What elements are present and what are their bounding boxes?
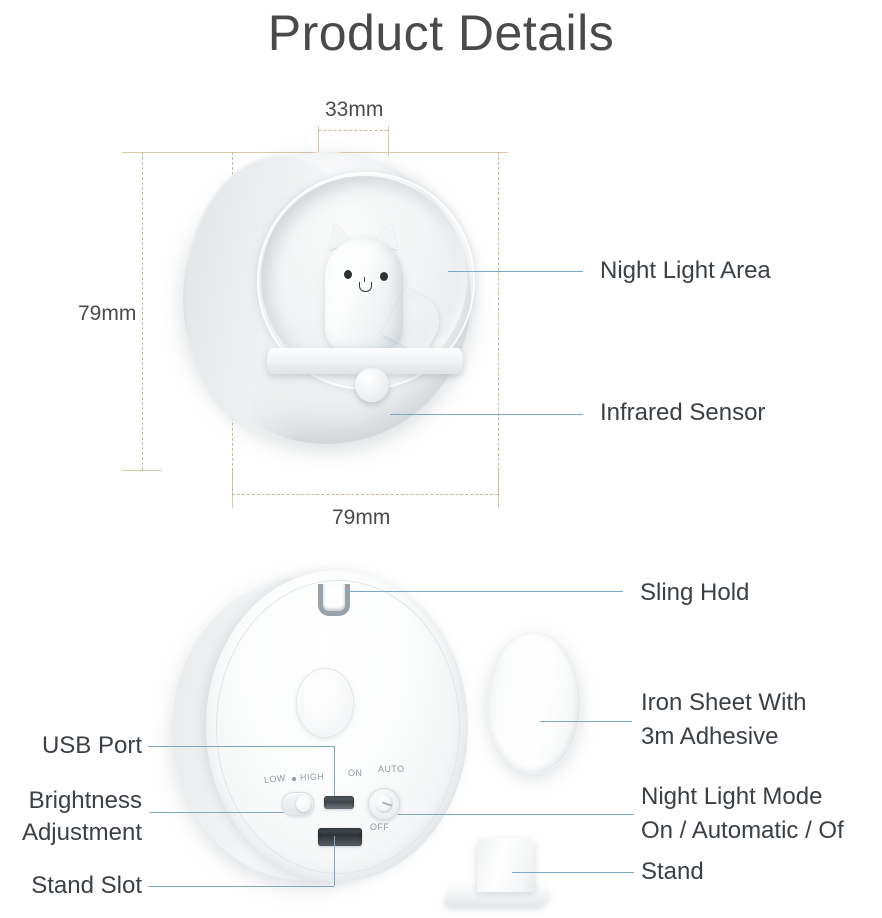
stand-slot-opening [318,828,362,846]
product-details-page: Product Details 33mm 79mm 79mm [0,0,882,918]
stand-bracket [447,838,565,910]
leader-stand [512,872,634,873]
callout-night-light-mode-line1: Night Light Mode [641,782,822,812]
mode-auto-label: AUTO [378,764,404,774]
dim-79mm-h-label: 79mm [332,506,390,530]
leader-iron-sheet [540,721,632,722]
brightness-adjustment-switch[interactable] [282,792,314,816]
callout-infrared-sensor: Infrared Sensor [600,398,765,428]
callout-stand: Stand [641,857,704,887]
callout-brightness-line1: Brightness [10,786,142,816]
cat-eye-right [380,272,388,281]
dim-79mm-v-cap-bottom [122,470,162,471]
brightness-dot-icon [292,777,296,781]
callout-iron-sheet-line2: 3m Adhesive [641,722,778,752]
night-light-back-view: LOW HIGH ON AUTO OFF [172,570,492,900]
callout-night-light-area: Night Light Area [600,256,771,286]
page-title: Product Details [0,2,882,64]
leader-night-light-area [448,271,583,272]
leader-usb-port-v [334,746,335,796]
power-button[interactable] [296,668,354,738]
night-light-front-view [183,152,478,452]
callout-night-light-mode-line2: On / Automatic / Of [641,816,844,846]
infrared-sensor-bump [355,368,389,402]
brightness-switch-knob[interactable] [296,795,311,812]
night-light-mode-switch[interactable] [368,788,400,820]
usb-port-connector [324,796,354,809]
cat-figurine [313,204,421,354]
cat-eye-left [344,270,352,279]
mode-off-label: OFF [370,822,389,832]
callout-iron-sheet-line1: Iron Sheet With [641,688,806,718]
mode-switch-knob[interactable] [375,794,393,813]
callout-usb-port: USB Port [30,731,142,761]
dim-79mm-v-label: 79mm [78,302,136,326]
callout-stand-slot: Stand Slot [18,871,142,901]
iron-sheet-disc [487,632,581,774]
leader-stand-slot-h [148,886,334,887]
dim-33mm-line [318,130,388,131]
leader-brightness-adjustment [150,812,284,813]
leader-night-light-mode [398,814,634,815]
dim-33mm-label: 33mm [325,98,383,122]
dim-guide-right-edge [498,152,499,496]
callout-sling-hold: Sling Hold [640,578,749,608]
mode-on-label: ON [348,768,362,778]
leader-usb-port-h [148,746,334,747]
callout-brightness-line2: Adjustment [0,818,142,848]
sling-hold-slot-icon [318,584,350,616]
leader-infrared-sensor [390,414,583,415]
leader-sling-hold [345,591,623,592]
leader-stand-slot-v [334,836,335,886]
dim-79mm-v-line [142,152,143,470]
brightness-high-label: HIGH [300,771,325,782]
dim-79mm-h-line [232,494,498,495]
stand-upright [477,838,535,892]
